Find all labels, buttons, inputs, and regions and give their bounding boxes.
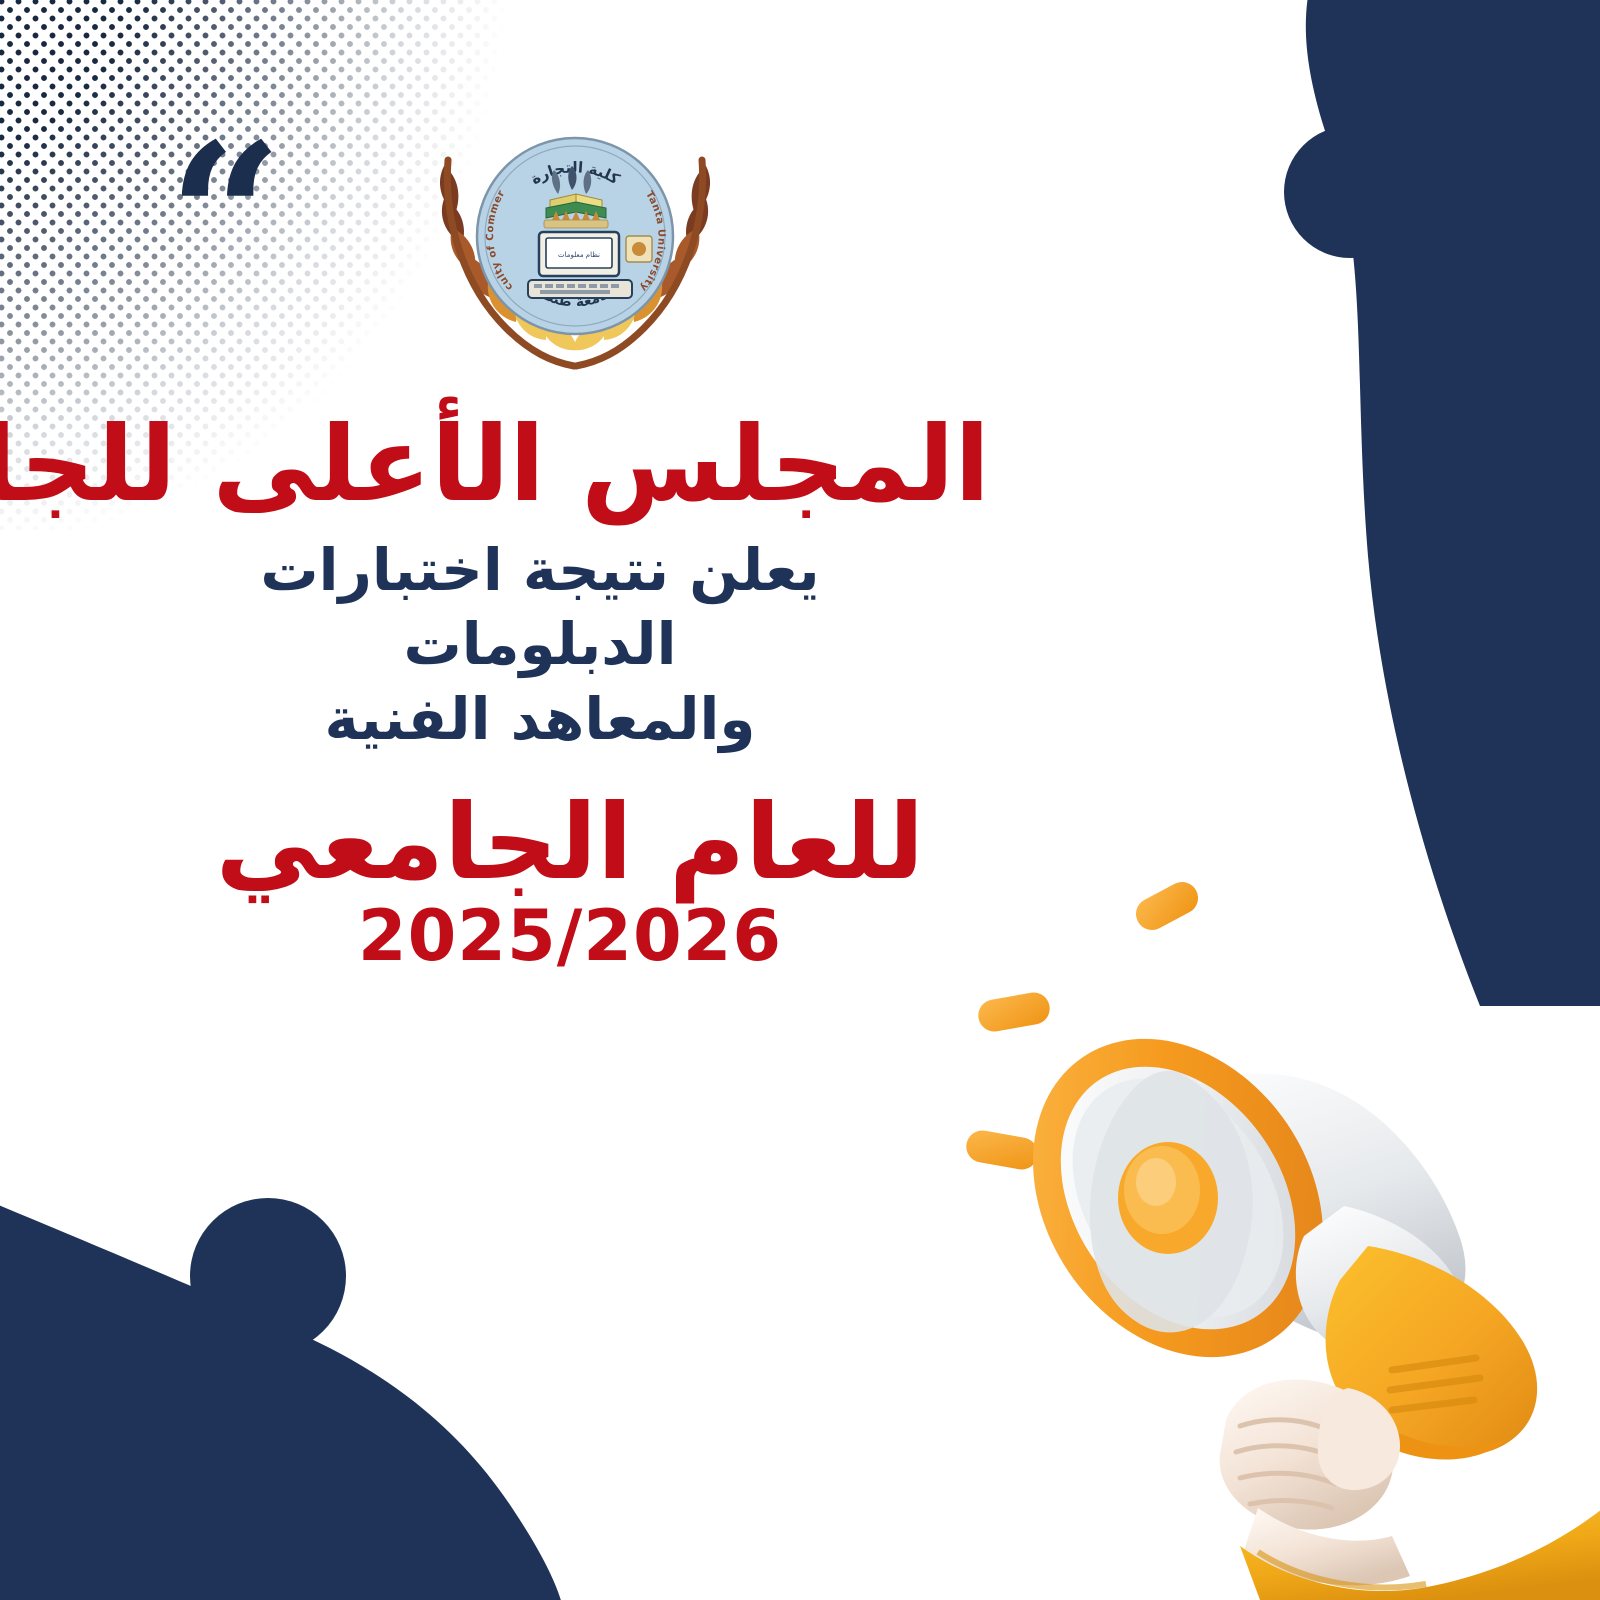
seal-screen-text: نظام معلومات (558, 251, 600, 259)
subtitle-line-1: يعلن نتيجة اختبارات الدبلومات (260, 536, 819, 678)
academic-year-value: 2025/2026 (90, 901, 990, 971)
quotation-mark-icon: “ (168, 118, 283, 318)
poster-canvas: “ (0, 0, 1600, 1600)
subtitle-line-2: والمعاهد الفنية (325, 685, 756, 753)
navy-blob-right (1180, 0, 1600, 1006)
university-seal-icon: كلية التجارة جامعة طنطا Faculty of Comme… (400, 96, 750, 396)
navy-blob-bottom (0, 1044, 876, 1600)
subtitle: يعلن نتيجة اختبارات الدبلومات والمعاهد ا… (90, 533, 990, 756)
megaphone-knob-icon (1118, 1142, 1218, 1254)
megaphone-in-hand-illustration (940, 860, 1600, 1600)
poster-text-block: المجلس الأعلى للجامعات يعلن نتيجة اختبار… (90, 410, 990, 971)
academic-year-label: للعام الجامعي (90, 788, 990, 897)
page-title: المجلس الأعلى للجامعات (90, 410, 990, 519)
